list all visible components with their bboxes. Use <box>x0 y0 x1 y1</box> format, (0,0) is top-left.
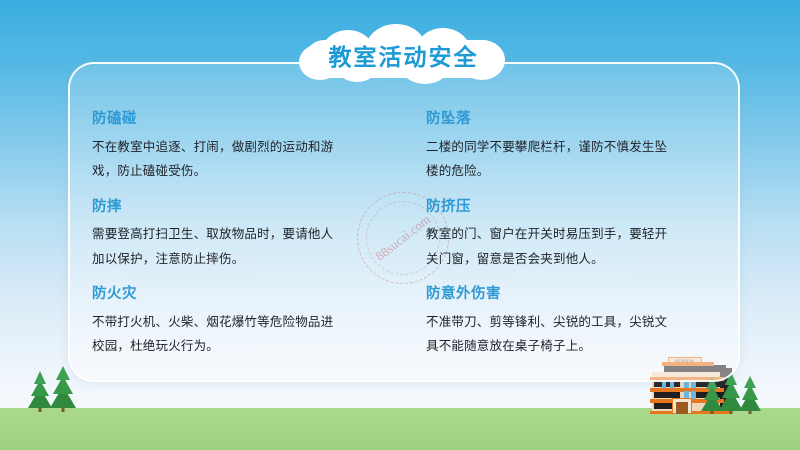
section-body: 不带打火机、火柴、烟花爆竹等危险物品进校园，杜绝玩火行为。 <box>92 310 344 359</box>
section-body: 教室的门、窗户在开关时易压到手，要轻开关门窗，留意是否会夹到他人。 <box>426 222 678 271</box>
title-cloud-banner: 教室活动安全 <box>291 24 516 86</box>
section-heading: 防意外伤害 <box>426 285 724 304</box>
safety-content: 防磕碰 不在教室中追逐、打闹，做剧烈的运动和游戏，防止磕碰受伤。 防摔 需要登高… <box>68 110 740 378</box>
page-title: 教室活动安全 <box>291 24 516 86</box>
section-body: 不在教室中追逐、打闹，做剧烈的运动和游戏，防止磕碰受伤。 <box>92 135 344 184</box>
safety-section: 防坠落 二楼的同学不要攀爬栏杆，谨防不慎发生坠楼的危险。 <box>426 110 724 184</box>
section-heading: 防摔 <box>92 198 390 217</box>
safety-section: 防摔 需要登高打扫卫生、取放物品时，要请他人加以保护，注意防止摔伤。 <box>92 198 390 272</box>
right-column: 防坠落 二楼的同学不要攀爬栏杆，谨防不慎发生坠楼的危险。 防挤压 教室的门、窗户… <box>410 110 724 378</box>
section-heading: 防挤压 <box>426 198 724 217</box>
building-door <box>676 402 688 414</box>
ground-strip <box>0 408 800 450</box>
section-body: 二楼的同学不要攀爬栏杆，谨防不慎发生坠楼的危险。 <box>426 135 678 184</box>
section-heading: 防坠落 <box>426 110 724 129</box>
safety-section: 防火灾 不带打火机、火柴、烟花爆竹等危险物品进校园，杜绝玩火行为。 <box>92 285 390 359</box>
safety-section: 防磕碰 不在教室中追逐、打闹，做剧烈的运动和游戏，防止磕碰受伤。 <box>92 110 390 184</box>
section-heading: 防磕碰 <box>92 110 390 129</box>
poster-canvas: SCHOOL 88sucai.com 教室活动安全 <box>0 0 800 450</box>
safety-section: 防意外伤害 不准带刀、剪等锋利、尖锐的工具，尖锐文具不能随意放在桌子椅子上。 <box>426 285 724 359</box>
section-body: 需要登高打扫卫生、取放物品时，要请他人加以保护，注意防止摔伤。 <box>92 222 344 271</box>
left-column: 防磕碰 不在教室中追逐、打闹，做剧烈的运动和游戏，防止磕碰受伤。 防摔 需要登高… <box>92 110 410 378</box>
safety-section: 防挤压 教室的门、窗户在开关时易压到手，要轻开关门窗，留意是否会夹到他人。 <box>426 198 724 272</box>
section-heading: 防火灾 <box>92 285 390 304</box>
section-body: 不准带刀、剪等锋利、尖锐的工具，尖锐文具不能随意放在桌子椅子上。 <box>426 310 678 359</box>
